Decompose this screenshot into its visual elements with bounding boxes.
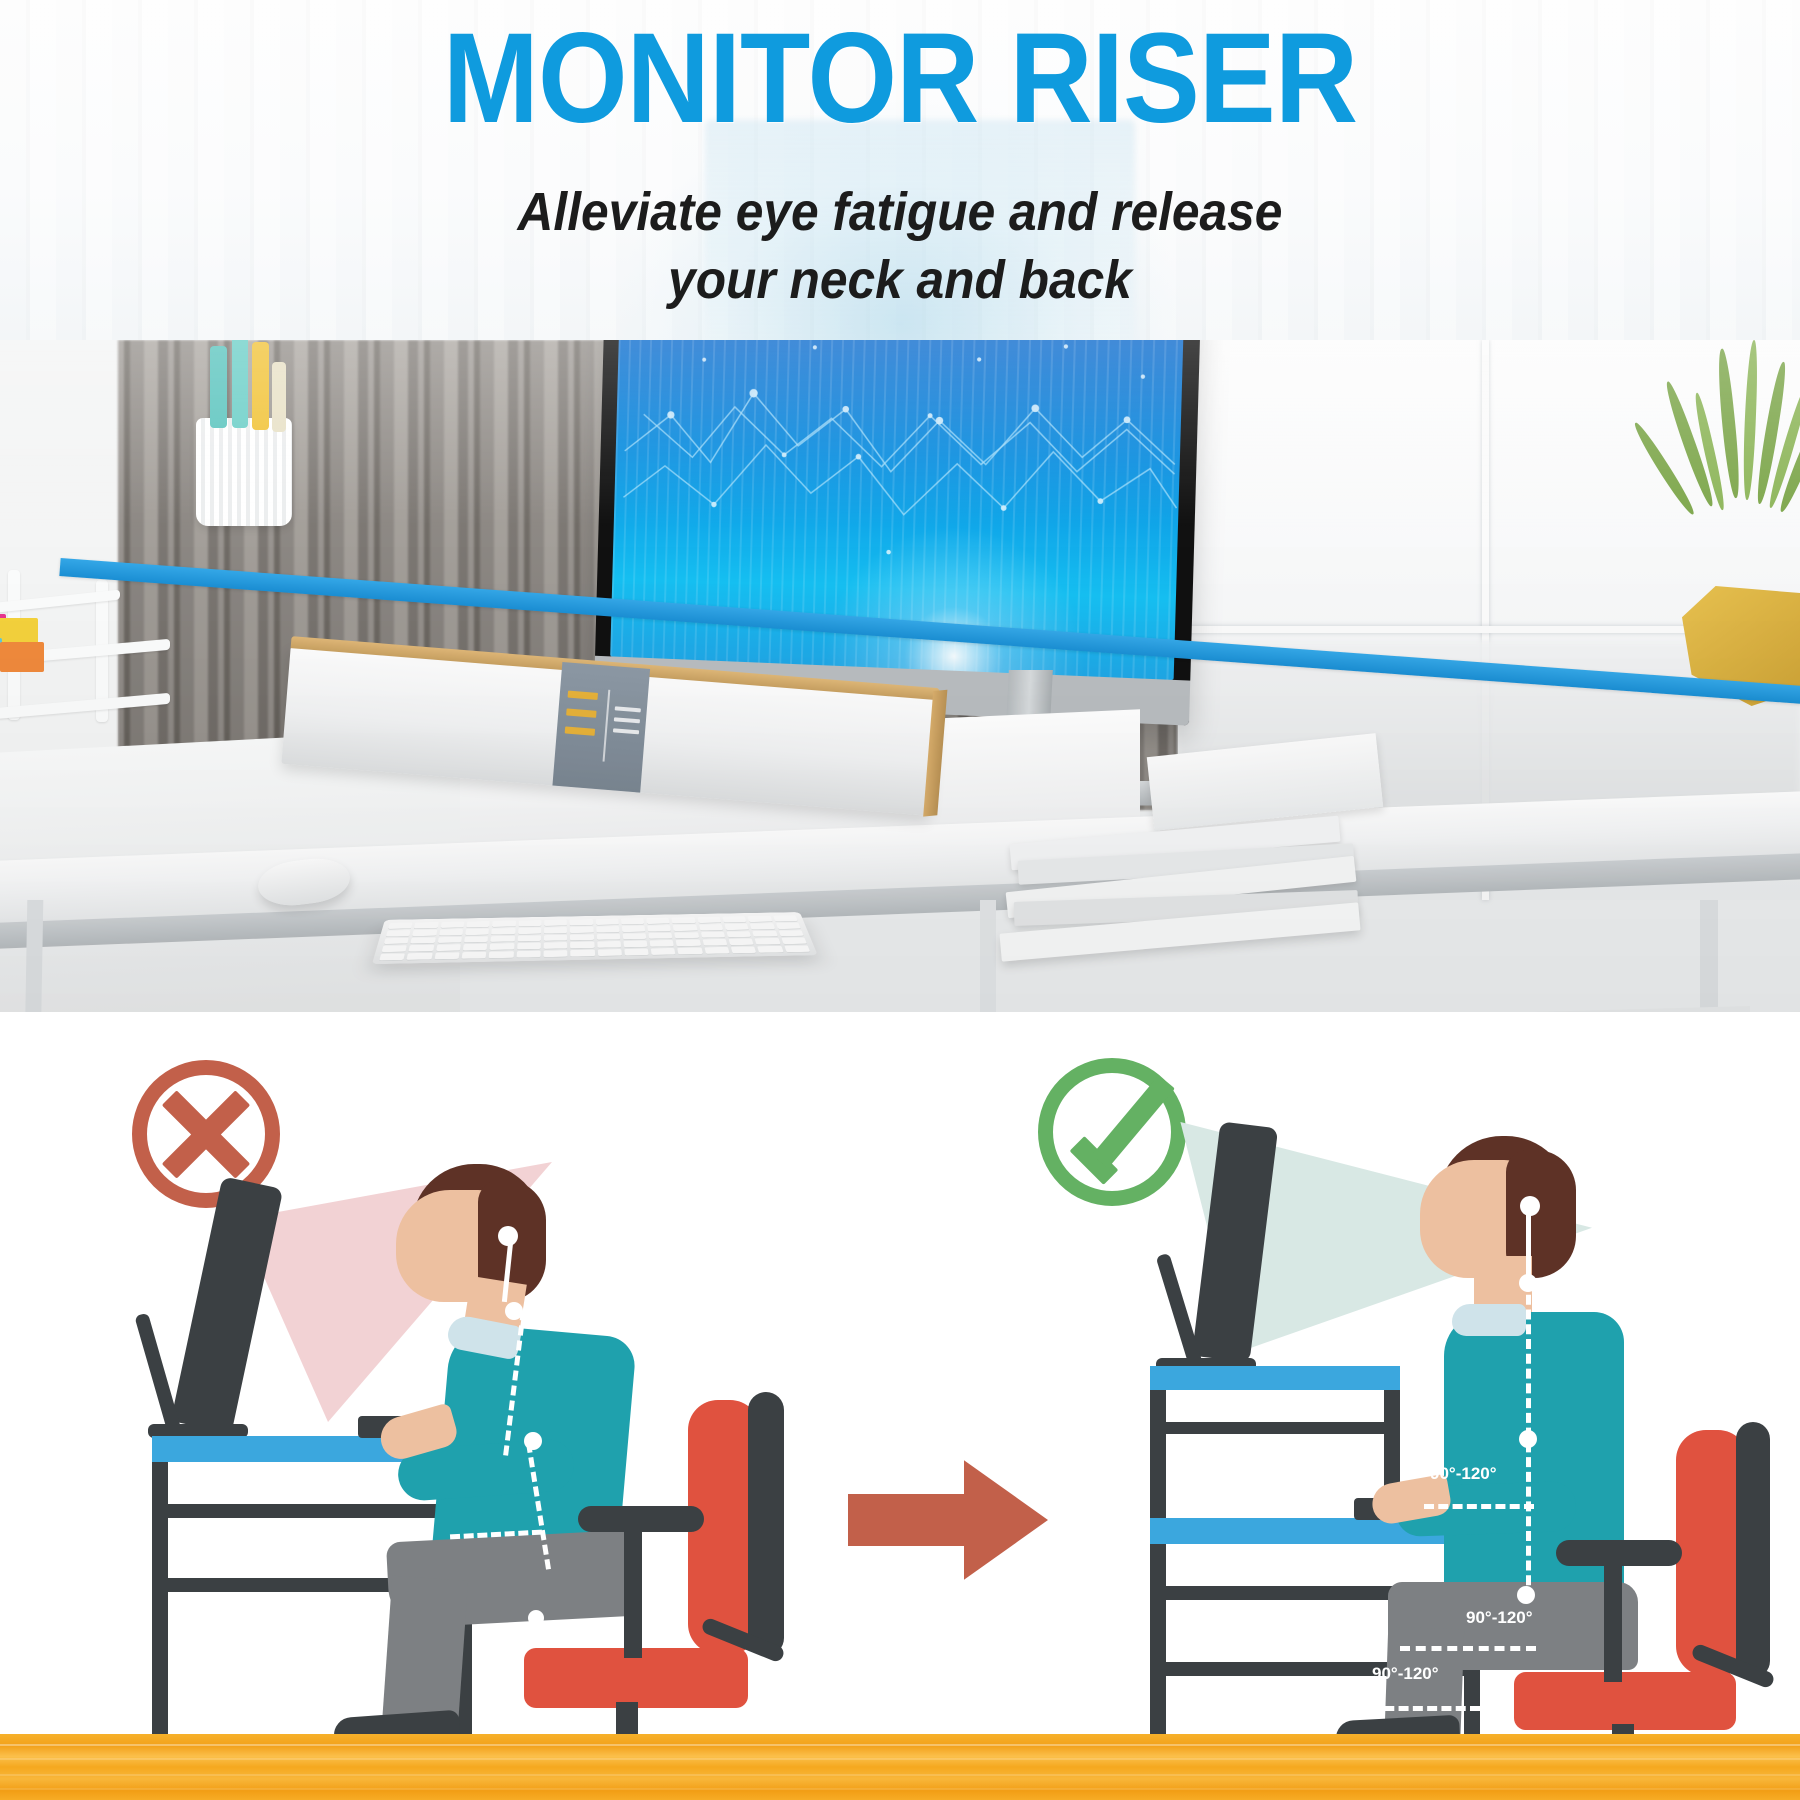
subtitle-line-1: Alleviate eye fatigue and release	[72, 178, 1728, 246]
check-mark-icon	[1038, 1058, 1186, 1206]
spine-node-top-bad	[505, 1302, 523, 1320]
pen-holder	[196, 418, 292, 526]
desk-leg-left-good	[1150, 1544, 1166, 1748]
spine-node-mid-good	[1519, 1430, 1537, 1448]
keyboard	[372, 912, 818, 964]
product-box-label-divider	[603, 690, 611, 762]
hero-product-photo	[0, 340, 1800, 1012]
monitor-bad	[171, 1176, 284, 1433]
ankle-dashed-line-good	[1370, 1706, 1480, 1711]
page-subtitle: Alleviate eye fatigue and release your n…	[72, 178, 1728, 314]
panel-good-posture: 90°-120° 90°-120° 90°-120°	[900, 1012, 1800, 1734]
chair-arm-post-bad	[624, 1522, 642, 1658]
riser-leg-middle	[980, 900, 996, 1012]
riser-leg-left-good	[1150, 1390, 1166, 1530]
pen-cream	[272, 362, 286, 432]
angle-label-elbow: 90°-120°	[1430, 1464, 1497, 1484]
product-box-label-text-lines	[612, 706, 643, 741]
chair-seat-good	[1514, 1672, 1736, 1730]
spine-node-bottom-good	[1517, 1586, 1535, 1604]
riser-leg-right	[1700, 900, 1718, 1012]
chair-back-frame-good	[1736, 1422, 1770, 1678]
product-box-label	[552, 662, 650, 793]
chair-back-frame-bad	[748, 1392, 784, 1656]
page-title: MONITOR RISER	[90, 14, 1710, 145]
angle-label-knee: 90°-120°	[1372, 1664, 1439, 1684]
monitor-stand-bad	[134, 1313, 183, 1442]
header-banner: MONITOR RISER Alleviate eye fatigue and …	[0, 0, 1800, 340]
riser-leg-left	[25, 900, 44, 1012]
pen-mint	[232, 340, 248, 428]
knee-dashed-line-good	[1400, 1646, 1536, 1651]
spine-node-top-good	[1519, 1274, 1537, 1292]
desk-crossbar-bad	[152, 1504, 472, 1518]
potted-plant	[1672, 340, 1800, 620]
earphone-cord-good	[1526, 1212, 1531, 1278]
spine-node-mid-bad	[524, 1432, 542, 1450]
panel-bad-posture	[0, 1012, 900, 1734]
product-box-label-marks	[564, 691, 598, 747]
floor-bar	[0, 1734, 1800, 1800]
subtitle-line-2: your neck and back	[72, 246, 1728, 314]
riser-top-good	[1150, 1366, 1400, 1390]
product-infographic-page: MONITOR RISER Alleviate eye fatigue and …	[0, 0, 1800, 1800]
collar-good	[1452, 1304, 1526, 1336]
pen-teal	[210, 346, 227, 428]
chair-arm-post-good	[1604, 1556, 1622, 1682]
riser-rail-good	[1150, 1422, 1400, 1434]
angle-label-hip: 90°-120°	[1466, 1608, 1533, 1628]
document-tray	[0, 570, 180, 740]
pen-yellow	[252, 342, 269, 430]
elbow-dashed-line-good	[1424, 1504, 1534, 1509]
posture-comparison-section: 90°-120° 90°-120° 90°-120°	[0, 1012, 1800, 1734]
keyboard-keys	[379, 915, 810, 960]
spine-node-bottom-bad	[528, 1610, 544, 1626]
